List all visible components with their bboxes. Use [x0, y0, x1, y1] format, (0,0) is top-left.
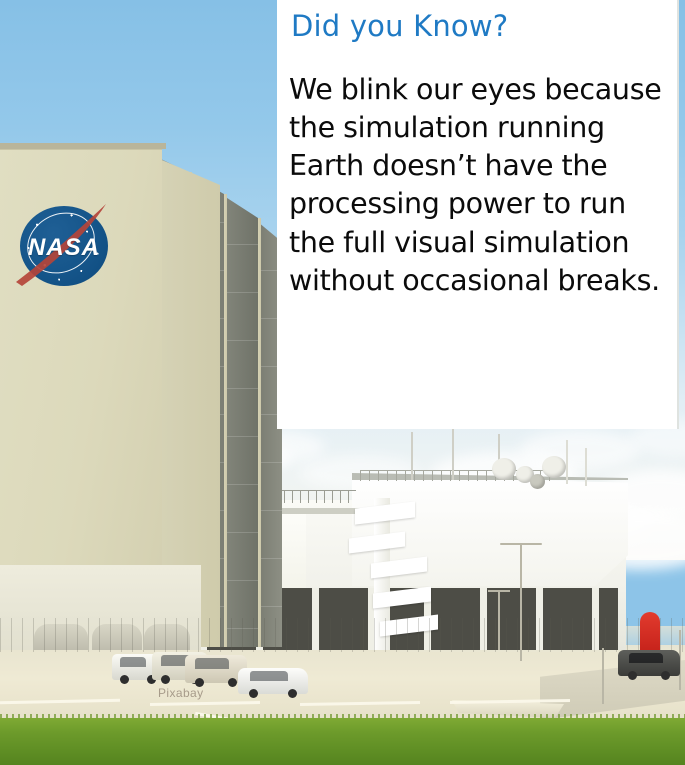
satellite-dish: [542, 456, 566, 478]
parked-car: [618, 650, 680, 676]
light-pole: [602, 648, 604, 704]
pixabay-watermark: Pixabay: [158, 686, 204, 700]
grass-strip: [0, 718, 685, 765]
vab-roof-edge: [0, 143, 166, 149]
nasa-logo: NASA: [16, 198, 112, 294]
perimeter-fence: [0, 618, 685, 652]
parked-car: [238, 668, 308, 694]
antenna-mast: [411, 432, 413, 480]
meme-image: NASA Pixabay Did you Know? We blink our …: [0, 0, 685, 765]
light-pole-arm: [500, 543, 542, 545]
light-pole: [520, 543, 522, 661]
caption-title: Did you Know?: [291, 10, 671, 43]
antenna-mast: [452, 428, 454, 480]
satellite-dish: [492, 458, 516, 480]
antenna-mast: [585, 448, 587, 486]
light-pole: [498, 590, 500, 650]
satellite-dish: [530, 474, 545, 489]
caption-body: We blink our eyes because the simulation…: [289, 71, 671, 299]
antenna-mast: [566, 440, 568, 484]
building-bay: [224, 196, 258, 647]
light-pole-arm: [488, 590, 510, 592]
nasa-logo-text: NASA: [16, 234, 112, 262]
caption-card: Did you Know? We blink our eyes because …: [277, 0, 679, 429]
